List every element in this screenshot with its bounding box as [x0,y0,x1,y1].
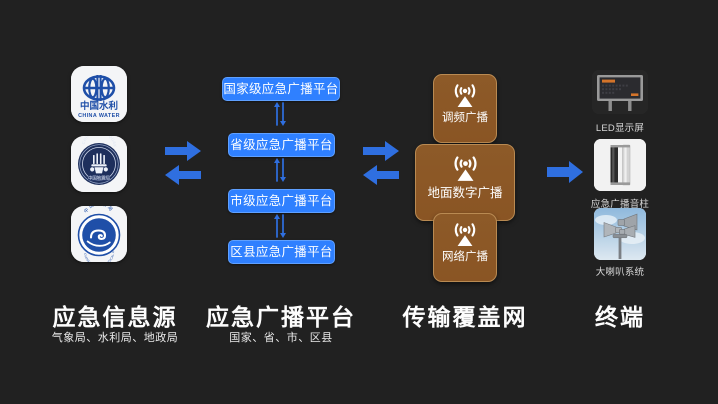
svg-text:中国地震局: 中国地震局 [88,175,110,182]
transmission-label-network: 网络广播 [434,251,496,264]
updown-arrow-icon [273,157,287,183]
terminal-device-speaker-column[interactable] [594,139,646,191]
arrow-platforms-to-transmission [361,138,409,195]
terminal-caption-horn-speaker: 大喇叭系统 [582,264,658,278]
broadcast-tower-icon [450,82,480,108]
platform-box-national[interactable]: 国家级应急广播平台 [222,77,340,101]
platform-box-provincial[interactable]: 省级应急广播平台 [228,133,335,157]
platform-connector-1 [273,101,287,127]
platform-connector-2 [273,157,287,183]
bidirectional-arrow-icon [361,138,409,190]
bidirectional-arrow-icon [163,138,211,190]
arrow-transmission-to-terminals [545,160,585,189]
terminal-device-horn-speaker[interactable] [594,208,646,260]
arrow-sources-to-platforms [163,138,211,195]
china-water-logo-icon: 中国水利 CHINA WATER [71,66,127,122]
platform-connector-3 [273,213,287,239]
led-display-icon [592,70,648,114]
section-title-transmission: 传输覆盖网 [385,298,545,332]
platform-box-municipal[interactable]: 市级应急广播平台 [228,189,335,213]
terminal-caption-led-display: LED显示屏 [588,120,652,134]
platform-box-district[interactable]: 区县应急广播平台 [228,240,335,264]
meteorological-administration-seal-icon: 中国气象局 CHINA METEOROLOGICAL ADMINISTRATIO… [71,206,127,262]
section-subtitle-sources: 气象局、水利局、地政局 [30,329,200,345]
updown-arrow-icon [273,213,287,239]
svg-text:中国水利: 中国水利 [80,100,118,112]
transmission-label-terrestrial-digital: 地面数字广播 [416,187,514,200]
speaker-column-icon [594,139,646,191]
earthquake-administration-seal-icon: CHINA EARTHQUAKE ADMINISTRATION 中国地震局 [71,136,127,192]
single-arrow-right-icon [545,160,585,184]
broadcast-tower-icon [450,221,480,247]
transmission-box-network[interactable]: 网络广播 [433,213,497,282]
transmission-box-terrestrial-digital[interactable]: 地面数字广播 [415,144,515,221]
terminal-device-led-display[interactable] [592,70,648,114]
source-logo-china-earthquake-administration[interactable]: CHINA EARTHQUAKE ADMINISTRATION 中国地震局 [71,136,127,192]
broadcast-tower-icon [449,154,482,182]
source-logo-china-meteorological-administration[interactable]: 中国气象局 CHINA METEOROLOGICAL ADMINISTRATIO… [71,206,127,262]
section-title-terminals: 终端 [560,298,680,332]
updown-arrow-icon [273,101,287,127]
section-subtitle-platforms: 国家、省、市、区县 [196,329,366,345]
horn-speaker-icon [594,208,646,260]
section-title-platforms: 应急广播平台 [196,298,366,332]
transmission-box-fm[interactable]: 调频广播 [433,74,497,143]
svg-text:CHINA WATER: CHINA WATER [78,113,120,119]
source-logo-china-water[interactable]: 中国水利 CHINA WATER [71,66,127,122]
diagram-canvas: 中国水利 CHINA WATER CHINA EARTHQUAKE [0,0,718,404]
transmission-label-fm: 调频广播 [434,112,496,125]
section-title-sources: 应急信息源 [30,298,200,332]
